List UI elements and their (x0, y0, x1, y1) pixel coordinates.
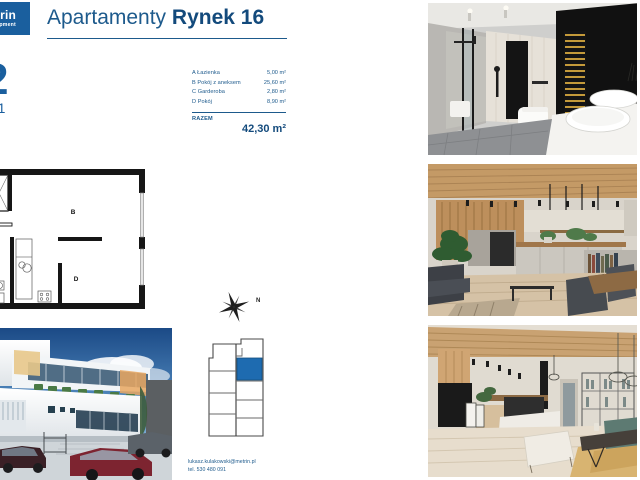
brochure-page: trin opment Apartamenty Rynek 16 2 o 1 A… (0, 0, 640, 480)
area-total-value: 42,30 m² (192, 123, 286, 135)
contact-info: lukasz.kulakowski@metrin.pl tel. 530 480… (188, 458, 256, 475)
area-table-divider (192, 112, 286, 113)
kitchen-render-photo (428, 164, 640, 316)
area-table: A Łazienka 5,00 m² B Pokój z aneksem 25,… (192, 69, 286, 135)
unit-floor-label: o 1 (0, 101, 5, 115)
compass-north-label: N (256, 298, 260, 304)
contact-email[interactable]: lukasz.kulakowski@metrin.pl (188, 458, 256, 466)
living-render-photo (428, 325, 640, 477)
floor-plan: B D (0, 165, 160, 320)
compass-rose: N (214, 288, 276, 328)
area-row-name: C Garderoba (192, 88, 225, 98)
metrin-logo[interactable]: trin opment (0, 2, 30, 35)
area-row: A Łazienka 5,00 m² (192, 69, 286, 79)
page-title: Apartamenty Rynek 16 (47, 6, 264, 30)
logo-sub-text: opment (0, 23, 16, 28)
title-bold: Rynek 16 (172, 6, 264, 29)
keyplan-highlighted-unit (237, 358, 262, 380)
area-row-name: B Pokój z aneksem (192, 79, 241, 89)
area-total-label: RAZEM (192, 116, 286, 122)
area-row-value: 5,00 m² (267, 69, 286, 79)
contact-phone[interactable]: tel. 530 480 091 (188, 466, 256, 474)
logo-main-text: trin (0, 9, 16, 21)
compass-icon (214, 288, 276, 328)
bathroom-render-photo (428, 3, 640, 155)
area-row-value: 2,80 m² (267, 88, 286, 98)
area-row-name: D Pokój (192, 98, 212, 108)
key-plan-diagram[interactable] (201, 336, 273, 446)
area-row: B Pokój z aneksem 25,60 m² (192, 79, 286, 89)
title-divider (47, 38, 287, 39)
area-row-value: 25,60 m² (264, 79, 286, 89)
area-row-value: 8,90 m² (267, 98, 286, 108)
title-regular: Apartamenty (47, 6, 172, 29)
floorplan-label-d: D (74, 276, 79, 283)
area-row: C Garderoba 2,80 m² (192, 88, 286, 98)
unit-number: 2 (0, 58, 7, 102)
area-row: D Pokój 8,90 m² (192, 98, 286, 108)
area-row-name: A Łazienka (192, 69, 220, 79)
floorplan-label-b: B (71, 209, 76, 216)
exterior-render-photo (0, 328, 172, 480)
